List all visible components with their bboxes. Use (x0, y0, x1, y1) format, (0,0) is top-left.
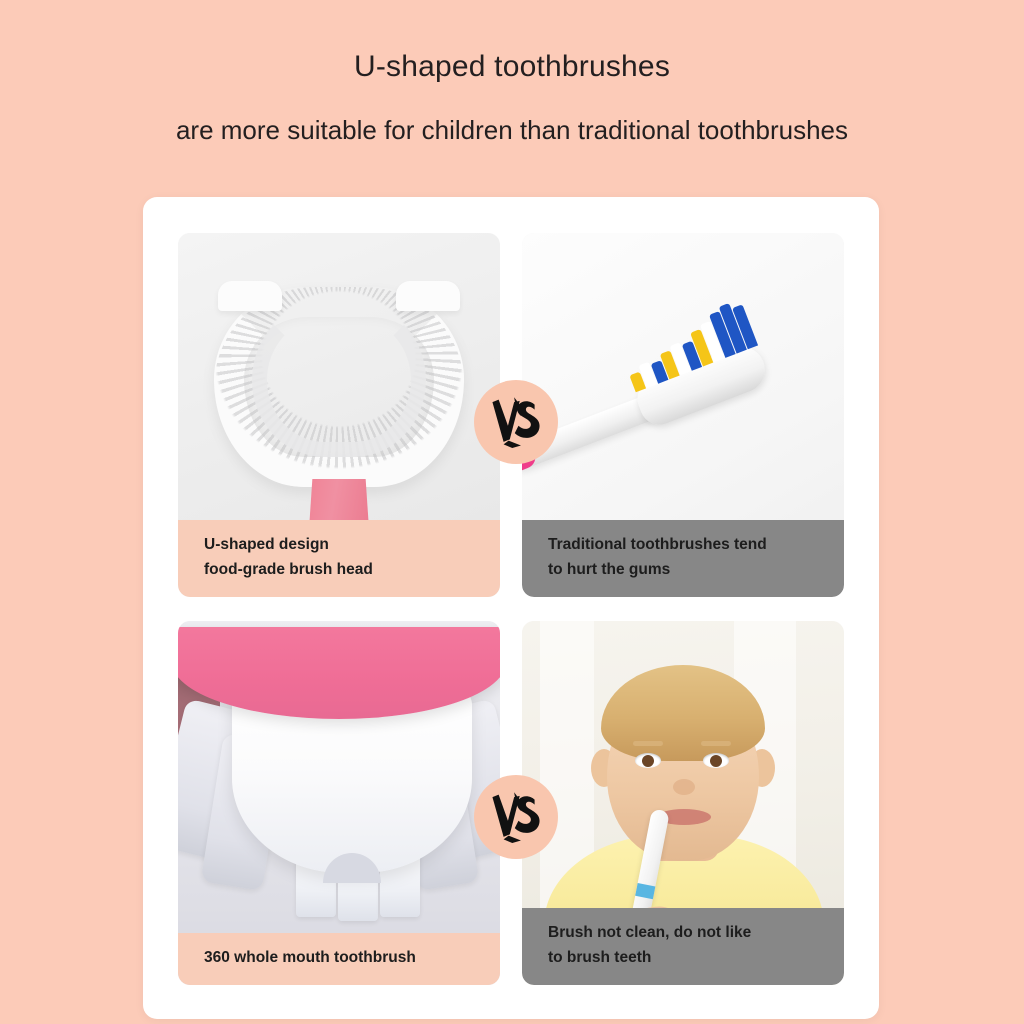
caption-line-1: 360 whole mouth toothbrush (204, 945, 482, 971)
tile-caption: Traditional toothbrushes tend to hurt th… (522, 520, 844, 597)
vs-icon (485, 391, 547, 453)
vs-badge-bottom (474, 775, 558, 859)
eyebrow-right (701, 741, 731, 746)
eyebrow-left (633, 741, 663, 746)
toothbrush-body (522, 312, 828, 486)
tile-u-shaped-brush-head[interactable]: U-shaped design food-grade brush head (178, 233, 500, 597)
page-subtitle: are more suitable for children than trad… (0, 114, 1024, 147)
caption-line-2: to brush teeth (548, 945, 826, 971)
tile-traditional-toothbrush[interactable]: Traditional toothbrushes tend to hurt th… (522, 233, 844, 597)
tile-caption: U-shaped design food-grade brush head (178, 520, 500, 597)
comparison-grid: U-shaped design food-grade brush head Tr… (178, 233, 844, 985)
tile-child-brushing[interactable]: Brush not clean, do not like to brush te… (522, 621, 844, 985)
nose (673, 779, 695, 795)
tile-whole-mouth-coverage[interactable]: 360 whole mouth toothbrush (178, 621, 500, 985)
eye-left (635, 753, 661, 768)
u-brush-head-shape (214, 287, 464, 487)
tile-caption: 360 whole mouth toothbrush (178, 933, 500, 985)
caption-line-2: to hurt the gums (548, 557, 826, 583)
tile-caption: Brush not clean, do not like to brush te… (522, 908, 844, 985)
caption-line-1: Traditional toothbrushes tend (548, 532, 826, 558)
comparison-card: U-shaped design food-grade brush head Tr… (143, 197, 879, 1019)
u-tip-left (218, 281, 282, 311)
vs-badge-top (474, 380, 558, 464)
u-inner-channel (252, 303, 426, 457)
caption-line-2: food-grade brush head (204, 557, 482, 583)
caption-line-1: U-shaped design (204, 532, 482, 558)
caption-line-1: Brush not clean, do not like (548, 920, 826, 946)
vs-icon (485, 786, 547, 848)
page-header: U-shaped toothbrushes are more suitable … (0, 0, 1024, 146)
whole-mouth-macro-image (178, 621, 500, 985)
brush-notch (323, 853, 381, 883)
page-title: U-shaped toothbrushes (0, 48, 1024, 86)
u-tip-right (396, 281, 460, 311)
eye-right (703, 753, 729, 768)
toothbrush-band (635, 883, 655, 899)
